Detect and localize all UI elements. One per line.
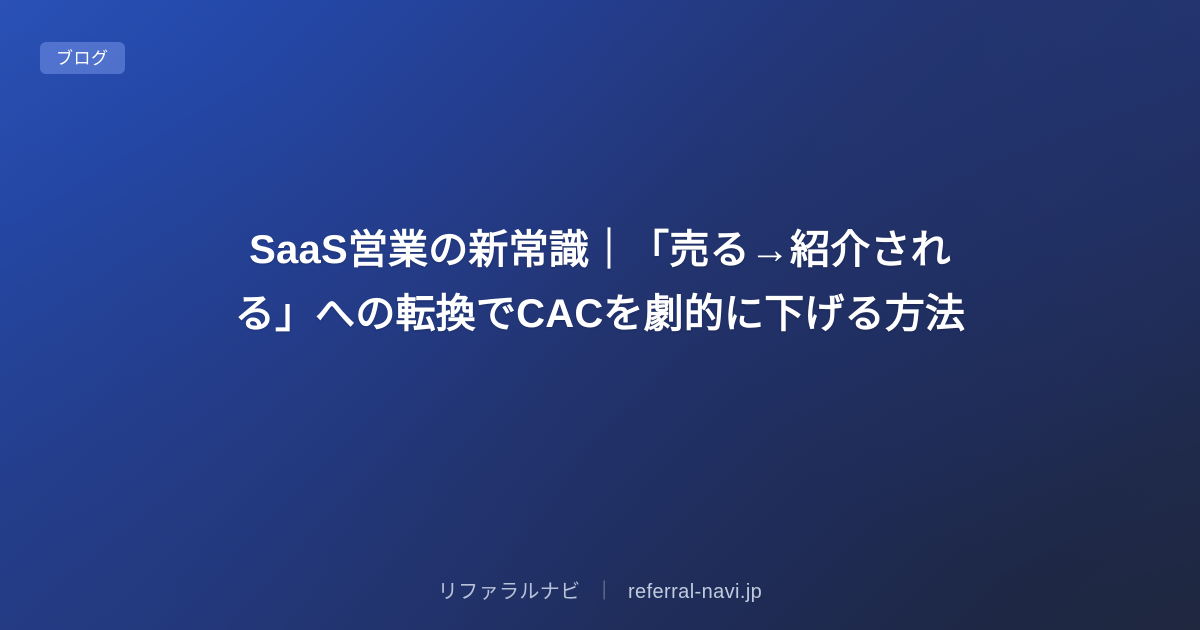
page-title: SaaS営業の新常識｜「売る→紹介される」への転換でCACを劇的に下げる方法: [220, 218, 980, 346]
site-url: referral-navi.jp: [628, 578, 762, 606]
footer: リファラルナビ ｜ referral-navi.jp: [0, 578, 1200, 606]
og-card: ブログ SaaS営業の新常識｜「売る→紹介される」への転換でCACを劇的に下げる…: [0, 0, 1200, 630]
footer-separator: ｜: [595, 579, 614, 606]
title-container: SaaS営業の新常識｜「売る→紹介される」への転換でCACを劇的に下げる方法: [0, 0, 1200, 630]
site-name: リファラルナビ: [438, 578, 581, 606]
